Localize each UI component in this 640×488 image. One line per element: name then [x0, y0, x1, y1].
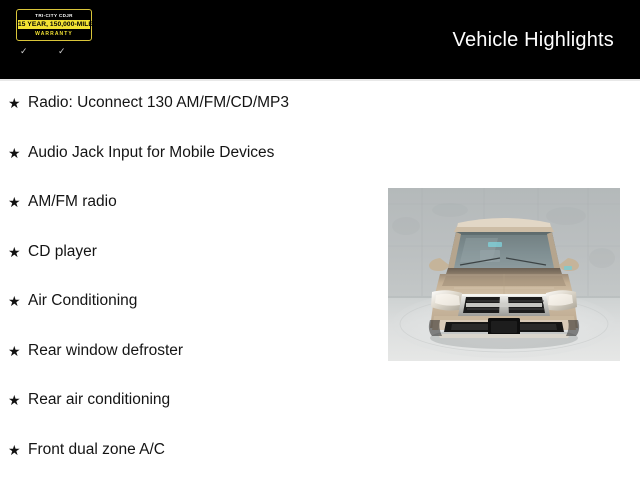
star-bullet-icon: ★	[8, 290, 28, 312]
list-item: ★ Front dual zone A/C	[0, 439, 380, 488]
list-item-label: Audio Jack Input for Mobile Devices	[28, 142, 274, 164]
vehicle-front-photo	[388, 188, 620, 361]
warranty-badge: TRI-CITY CDJR 15 YEAR, 150,000-MILE WARR…	[16, 9, 92, 41]
star-bullet-icon: ★	[8, 142, 28, 164]
list-item-label: Air Conditioning	[28, 290, 137, 312]
star-bullet-icon: ★	[8, 191, 28, 213]
list-item-label: AM/FM radio	[28, 191, 117, 213]
list-item: ★ AM/FM radio	[0, 191, 380, 241]
list-item: ★ Rear window defroster	[0, 340, 380, 390]
star-bullet-icon: ★	[8, 340, 28, 362]
badge-checkmarks: ✓ ✓	[16, 46, 92, 60]
page-title: Vehicle Highlights	[453, 29, 614, 51]
star-bullet-icon: ★	[8, 389, 28, 411]
list-item: ★ Air Conditioning	[0, 290, 380, 340]
badge-warranty-term: 15 YEAR, 150,000-MILE	[18, 20, 90, 29]
star-bullet-icon: ★	[8, 241, 28, 263]
list-item-label: Radio: Uconnect 130 AM/FM/CD/MP3	[28, 92, 289, 114]
badge-dealer-name: TRI-CITY CDJR	[17, 12, 91, 19]
list-item-label: CD player	[28, 241, 97, 263]
header-divider	[0, 79, 640, 81]
list-item-label: Rear window defroster	[28, 340, 183, 362]
star-bullet-icon: ★	[8, 92, 28, 114]
star-bullet-icon: ★	[8, 439, 28, 461]
vehicle-highlights-list: ★ Radio: Uconnect 130 AM/FM/CD/MP3 ★ Aud…	[0, 92, 380, 488]
list-item: ★ Audio Jack Input for Mobile Devices	[0, 142, 380, 192]
list-item: ★ Radio: Uconnect 130 AM/FM/CD/MP3	[0, 92, 380, 142]
check-icon-2: ✓	[58, 47, 66, 56]
vehicle-photo-artwork	[388, 188, 620, 361]
page-header: TRI-CITY CDJR 15 YEAR, 150,000-MILE WARR…	[0, 0, 640, 79]
list-item-label: Front dual zone A/C	[28, 439, 165, 461]
check-icon-1: ✓	[20, 47, 28, 56]
list-item-label: Rear air conditioning	[28, 389, 170, 411]
list-item: ★ CD player	[0, 241, 380, 291]
badge-warranty-label: WARRANTY	[17, 30, 91, 38]
list-item: ★ Rear air conditioning	[0, 389, 380, 439]
